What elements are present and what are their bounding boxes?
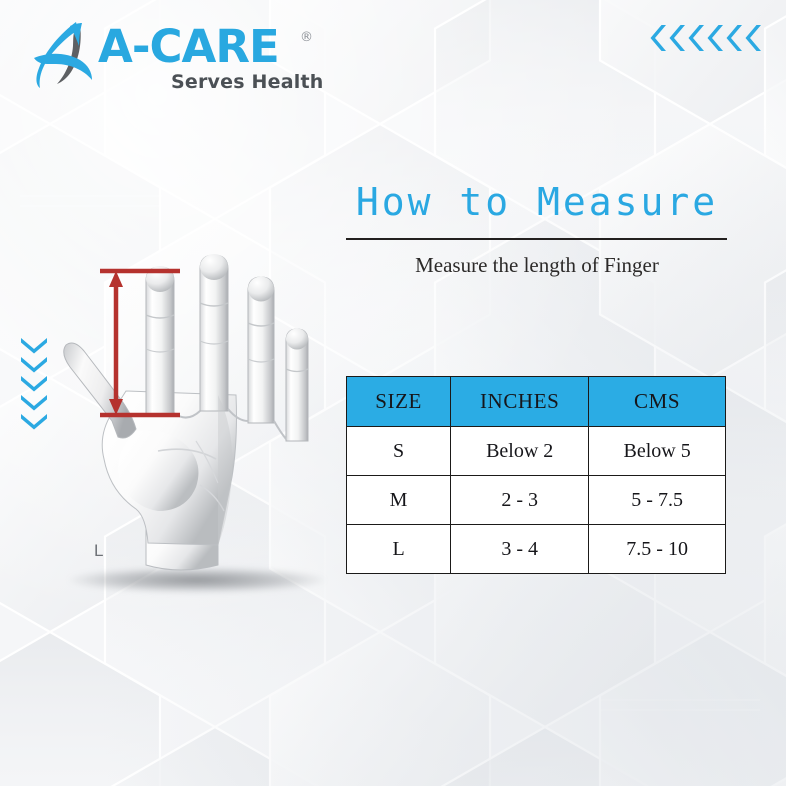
table-row: S Below 2 Below 5 [347, 427, 726, 476]
cell-size: M [347, 476, 451, 525]
cell-inches: 3 - 4 [451, 525, 589, 574]
cell-cms: Below 5 [589, 427, 726, 476]
brand-tagline: Serves Health [171, 71, 323, 93]
hand-measurement-diagram: L [40, 245, 320, 605]
chevron-left-icon [726, 24, 744, 52]
title-divider [346, 238, 727, 240]
chevron-left-icon [650, 24, 668, 52]
column-header-cms: CMS [589, 377, 726, 427]
chevron-left-icon [745, 24, 763, 52]
chevron-left-icon [669, 24, 687, 52]
cell-cms: 7.5 - 10 [589, 525, 726, 574]
table-row: L 3 - 4 7.5 - 10 [347, 525, 726, 574]
dimension-label-L: L [94, 541, 103, 561]
brand-logo[interactable]: A-CARE ® Serves Health [26, 14, 326, 94]
cell-cms: 5 - 7.5 [589, 476, 726, 525]
size-chart-table: SIZE INCHES CMS S Below 2 Below 5 M 2 - … [346, 376, 726, 574]
cell-inches: Below 2 [451, 427, 589, 476]
top-chevron-group [650, 24, 763, 52]
cell-inches: 2 - 3 [451, 476, 589, 525]
page-subtitle: Measure the length of Finger [346, 253, 728, 278]
page-title: How to Measure [346, 183, 728, 221]
finger-length-dimension-marker [40, 245, 320, 605]
cell-size: S [347, 427, 451, 476]
swoosh-wing-logo-icon [26, 18, 98, 90]
column-header-inches: INCHES [451, 377, 589, 427]
column-header-size: SIZE [347, 377, 451, 427]
chevron-left-icon [707, 24, 725, 52]
cell-size: L [347, 525, 451, 574]
table-row: M 2 - 3 5 - 7.5 [347, 476, 726, 525]
chevron-left-icon [688, 24, 706, 52]
registered-mark-icon: ® [300, 30, 313, 45]
size-chart-poster: A-CARE ® Serves Health How to Measure Me… [0, 0, 786, 786]
table-header-row: SIZE INCHES CMS [347, 377, 726, 427]
brand-name: A-CARE [98, 24, 279, 69]
